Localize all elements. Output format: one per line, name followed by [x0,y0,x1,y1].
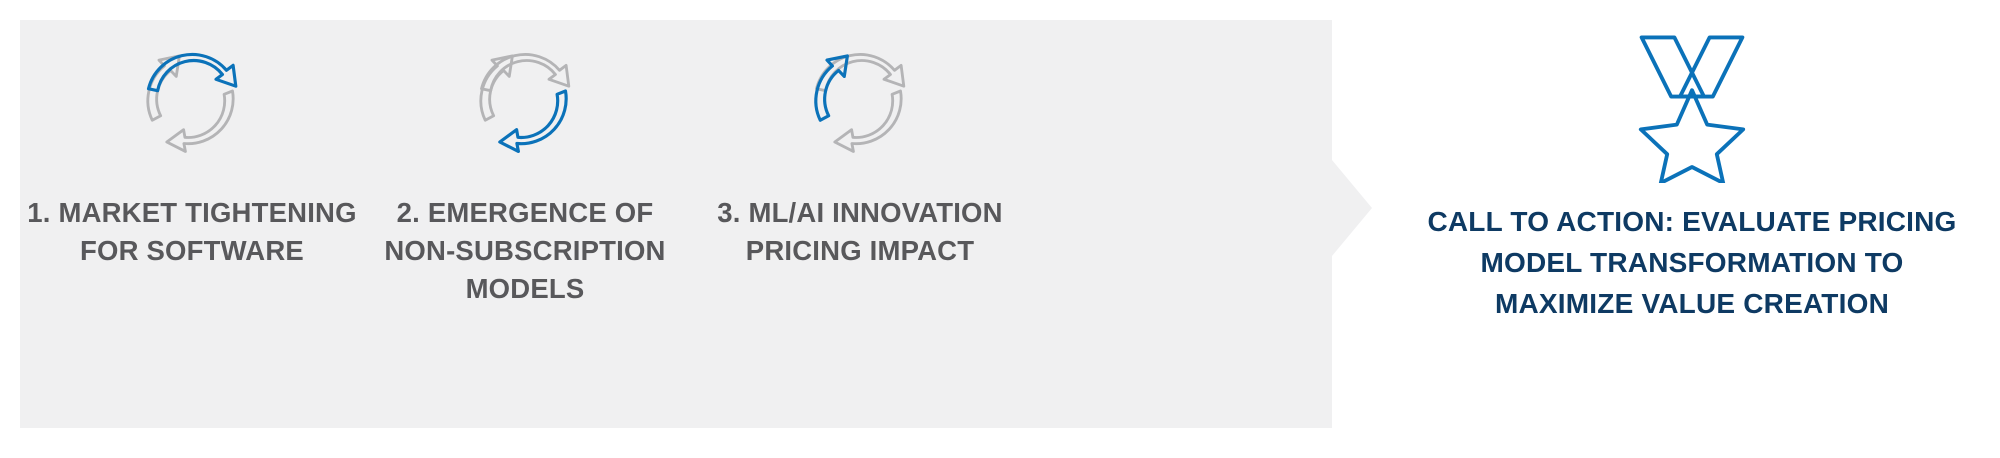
step-1-icon-wrap [22,20,362,180]
step-1: 1. MARKET TIGHTENING FOR SOFTWARE [22,20,362,270]
cycle-arrows-icon [450,25,600,175]
cta-icon-wrap [1400,20,1984,186]
step-3: 3. ML/AI INNOVATION PRICING IMPACT [690,20,1030,270]
step-3-icon-wrap [690,20,1030,180]
infographic-canvas: 1. MARKET TIGHTENING FOR SOFTWARE 2. EME… [0,0,2000,458]
cycle-arrows-icon [785,25,935,175]
cycle-arrows-icon [117,25,267,175]
step-1-label: 1. MARKET TIGHTENING FOR SOFTWARE [22,194,362,270]
step-2-label: 2. EMERGENCE OF NON-SUBSCRIPTION MODELS [355,194,695,308]
medal-star-icon [1631,23,1753,183]
step-2: 2. EMERGENCE OF NON-SUBSCRIPTION MODELS [355,20,695,308]
cta-text: CALL TO ACTION: EVALUATE PRICING MODEL T… [1400,202,1984,325]
step-2-icon-wrap [355,20,695,180]
step-3-label: 3. ML/AI INNOVATION PRICING IMPACT [690,194,1030,270]
call-to-action: CALL TO ACTION: EVALUATE PRICING MODEL T… [1400,20,1984,325]
